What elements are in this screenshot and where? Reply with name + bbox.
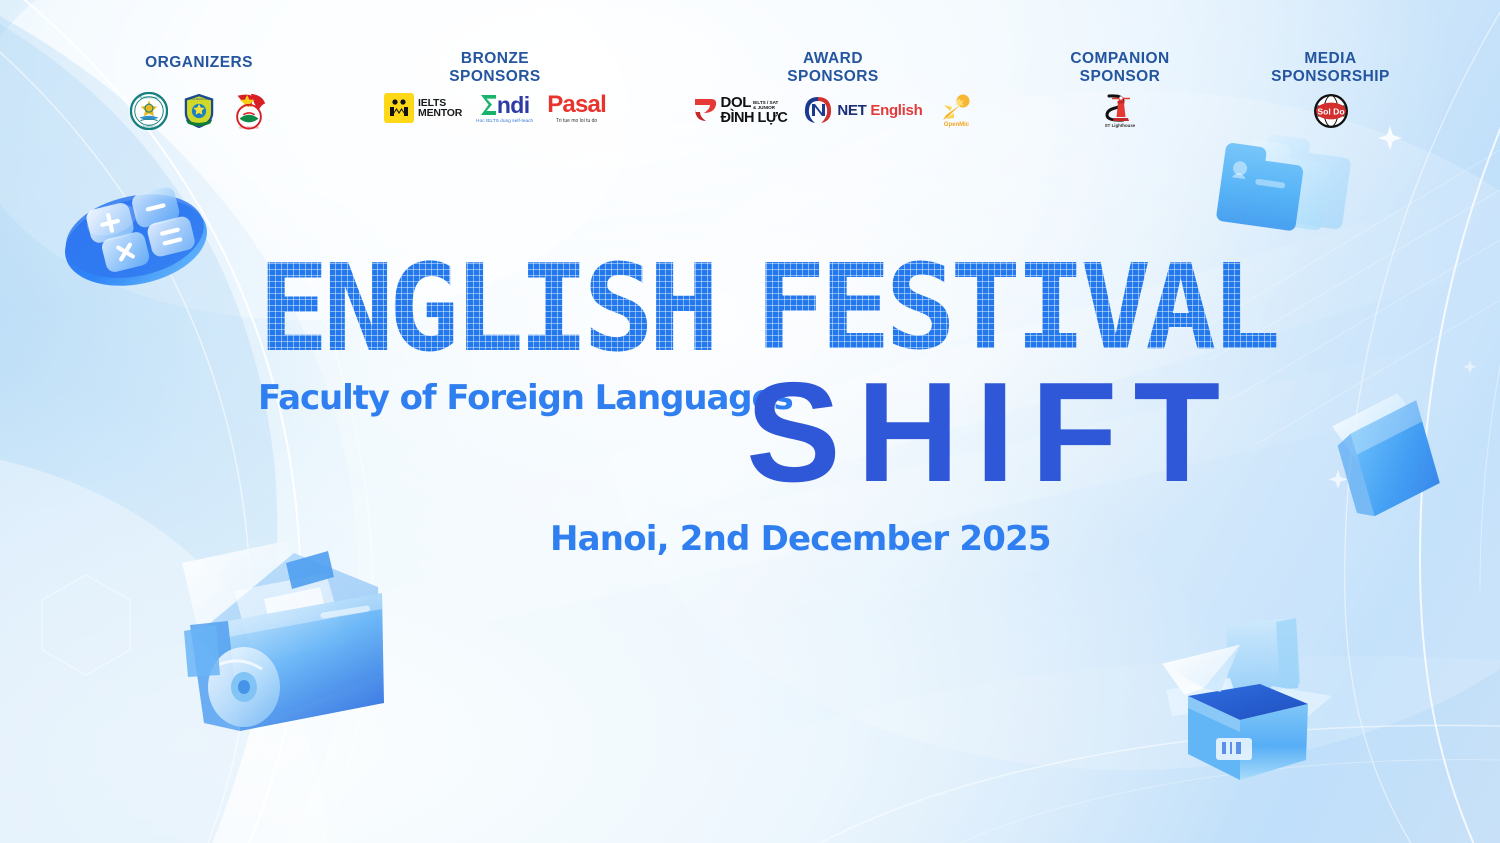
ielts-mentor-logo: IELTS MENTOR — [384, 93, 462, 123]
open-box-paper-plane-3d-icon — [1148, 612, 1348, 787]
sponsor-title-line1: AWARD — [672, 50, 994, 68]
title-word-english-wrap: ENGLISH — [258, 252, 728, 370]
endi-label: ndi — [497, 92, 530, 118]
folder-stack-3d-icon — [1195, 126, 1365, 246]
english-label: English — [870, 102, 922, 119]
sponsor-title-line2: SPONSOR — [1025, 68, 1215, 86]
ielts-mentor-mark — [384, 93, 414, 123]
faculty-shield-emblem: KHOA NGOAI NGU — [180, 92, 218, 130]
svg-text:TRUONG DAI HOC: TRUONG DAI HOC — [138, 97, 160, 100]
sponsor-title-line2: SPONSORS — [672, 68, 994, 86]
title-word-shift: SHIFT — [746, 362, 1236, 504]
st-lighthouse-logo: ST Lighthouse — [1103, 93, 1137, 128]
dol-mark — [692, 96, 718, 124]
sponsor-group-title: MEDIA SPONSORSHIP — [1238, 50, 1423, 86]
sponsor-logos: DOL IELTS / SAT & JUNIOR ĐÌNH LỰC — [672, 93, 994, 128]
pasal-logo: Pasal Tri tue mo loi tu do — [547, 93, 606, 124]
sponsor-logos: ST Lighthouse — [1025, 93, 1215, 128]
sol-do-logo: Sol Do — [1313, 93, 1349, 129]
sponsor-title-line2: SPONSORSHIP — [1238, 68, 1423, 86]
event-date: Hanoi, 2nd December 2025 — [550, 519, 1051, 559]
sponsor-group-media: MEDIA SPONSORSHIP Sol Do — [1238, 50, 1423, 129]
net-english-mark — [803, 95, 833, 125]
dol-dinh-luc-logo: DOL IELTS / SAT & JUNIOR ĐÌNH LỰC — [692, 95, 788, 126]
ielts-mentor-label2: MENTOR — [418, 108, 462, 119]
calculator-3d-icon — [52, 170, 220, 300]
sponsor-group-title: BRONZE SPONSORS — [370, 50, 620, 86]
net-english-logo: NET English — [803, 95, 922, 125]
dol-tagline: IELTS / SAT & JUNIOR — [753, 100, 778, 110]
st-lighthouse-wordmark: ST Lighthouse — [1105, 123, 1136, 128]
faculty-subtitle: Faculty of Foreign Languages — [258, 378, 793, 418]
title-word-festival: FESTIVAL — [755, 252, 1295, 370]
sponsor-logos: IELTS MENTOR ndi Hoc IELTS dung self-tea… — [370, 93, 620, 124]
sponsor-logos: Sol Do — [1238, 93, 1423, 129]
title-word-festival-wrap: FESTIVAL — [755, 252, 1295, 370]
sponsor-group-title: ORGANIZERS — [84, 54, 314, 72]
dol-wordmark: DOL IELTS / SAT & JUNIOR ĐÌNH LỰC — [721, 95, 788, 126]
sponsor-bar: ORGANIZERS TRUONG DAI HOC UNIVERSITY — [0, 48, 1500, 144]
sponsor-group-organizers: ORGANIZERS TRUONG DAI HOC UNIVERSITY — [84, 54, 314, 130]
openmic-mark — [938, 93, 974, 123]
sol-do-wordmark: Sol Do — [1317, 107, 1344, 117]
svg-text:DOAN TNCS HCM: DOAN TNCS HCM — [239, 127, 258, 130]
sponsor-group-bronze: BRONZE SPONSORS IELTS MENTOR — [370, 50, 620, 124]
net-english-wordmark: NET English — [837, 102, 922, 119]
st-lighthouse-mark — [1103, 93, 1137, 123]
sponsor-group-title: COMPANION SPONSOR — [1025, 50, 1215, 86]
sparkle-icon — [1329, 126, 1477, 503]
sponsor-logos: TRUONG DAI HOC UNIVERSITY KHOA NGOAI NGU — [84, 92, 314, 130]
pasal-tagline: Tri tue mo loi tu do — [556, 118, 597, 124]
pasal-wordmark: Pasal — [547, 93, 606, 117]
sponsor-title-line1: MEDIA — [1238, 50, 1423, 68]
sponsor-title-line1: COMPANION — [1025, 50, 1215, 68]
endi-wordmark: ndi — [480, 94, 530, 117]
sponsor-group-title: AWARD SPONSORS — [672, 50, 994, 86]
sponsor-group-award: AWARD SPONSORS DOL IELTS / SAT — [672, 50, 994, 128]
svg-text:UNIVERSITY: UNIVERSITY — [142, 126, 157, 129]
sponsor-title-line1: ORGANIZERS — [84, 54, 314, 72]
ielts-mentor-wordmark: IELTS MENTOR — [418, 98, 462, 119]
dol-label: DOL — [721, 95, 751, 110]
university-seal-emblem: TRUONG DAI HOC UNIVERSITY — [130, 92, 168, 130]
title-word-english: ENGLISH — [258, 252, 728, 370]
openmic-logo: OpenMic — [938, 93, 974, 128]
event-poster: ORGANIZERS TRUONG DAI HOC UNIVERSITY — [0, 0, 1500, 843]
folder-documents-cd-3d-icon — [168, 525, 413, 740]
youth-union-emblem: DOAN TNCS HCM — [230, 92, 268, 130]
sponsor-group-companion: COMPANION SPONSOR ST Lighthouse — [1025, 50, 1215, 128]
sponsor-title-line1: BRONZE — [370, 50, 620, 68]
endi-logo: ndi Hoc IELTS dung self-teach — [476, 94, 533, 123]
openmic-wordmark: OpenMic — [944, 122, 969, 128]
net-label: NET — [837, 102, 866, 119]
svg-text:KHOA NGOAI NGU: KHOA NGOAI NGU — [189, 98, 210, 101]
dol-label2: ĐÌNH LỰC — [721, 111, 788, 126]
endi-tagline: Hoc IELTS dung self-teach — [476, 118, 533, 123]
sponsor-title-line2: SPONSORS — [370, 68, 620, 86]
folder-3d-icon — [1318, 385, 1453, 525]
